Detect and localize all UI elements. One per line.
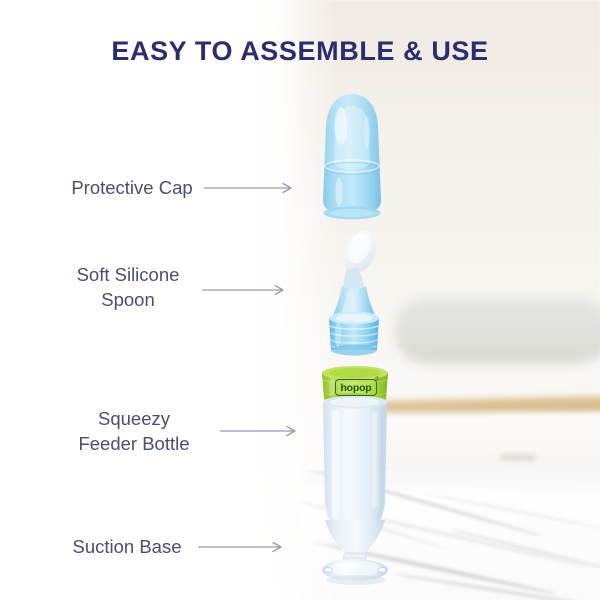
callout-label-protective-cap: Protective Cap — [62, 175, 202, 200]
infographic-canvas: EASY TO ASSEMBLE & USE — [0, 0, 600, 600]
background-cabinet-handle — [500, 455, 536, 460]
callout-protective-cap: Protective Cap — [62, 175, 302, 200]
right-arrow-icon — [194, 283, 290, 297]
marble-vein — [422, 492, 600, 530]
callout-squeezy-feeder-bottle: Squeezy Feeder Bottle — [62, 406, 302, 456]
marble-vein — [391, 572, 600, 600]
callout-label-squeezy-feeder-bottle: Squeezy Feeder Bottle — [62, 406, 206, 456]
page-title: EASY TO ASSEMBLE & USE — [0, 36, 600, 67]
background-cushion — [395, 296, 600, 364]
brand-name: hopop — [340, 382, 371, 394]
brand-registered-mark: ® — [375, 377, 379, 383]
callout-soft-silicone-spoon: Soft Silicone Spoon — [62, 262, 302, 312]
right-arrow-icon — [206, 424, 302, 438]
silicone-spoon-assembly — [316, 226, 392, 358]
brand-logo-badge: hopop — [335, 379, 377, 396]
suction-base — [316, 520, 394, 590]
callout-suction-base: Suction Base — [62, 534, 302, 559]
callout-label-suction-base: Suction Base — [62, 534, 192, 559]
protective-cap — [314, 92, 390, 220]
right-arrow-icon — [192, 540, 288, 554]
right-arrow-icon — [202, 181, 298, 195]
callout-label-soft-silicone-spoon: Soft Silicone Spoon — [62, 262, 194, 312]
